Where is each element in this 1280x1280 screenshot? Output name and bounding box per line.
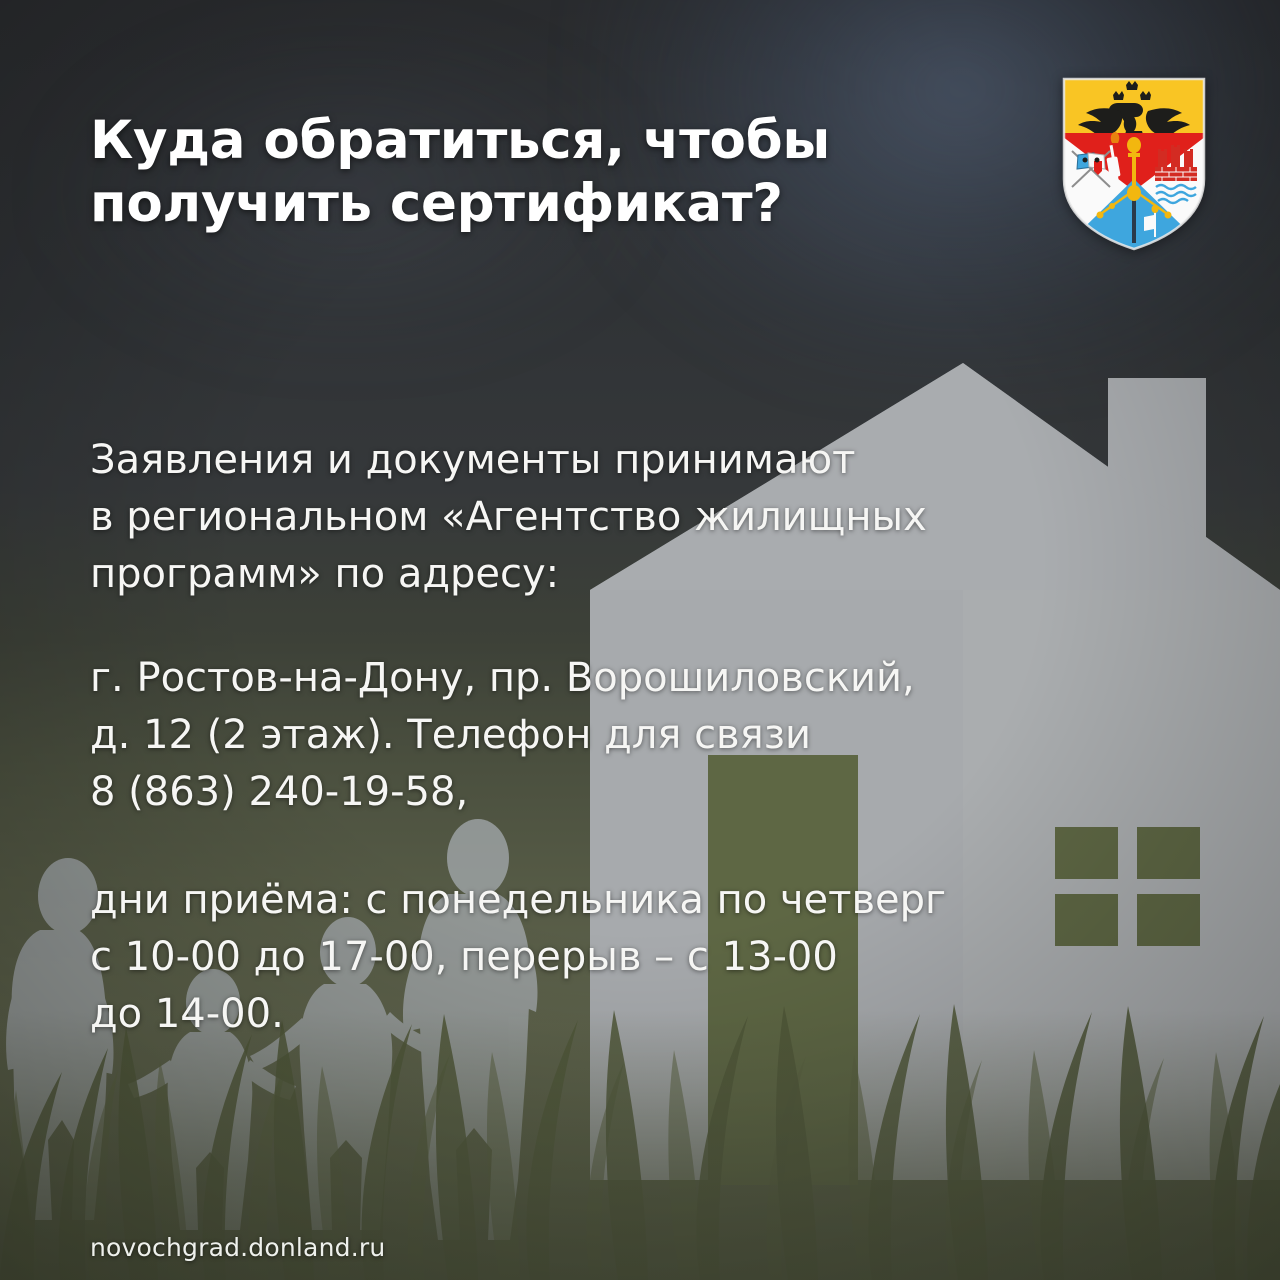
- reception-hours-paragraph: дни приёма: с понедельника по четверг с …: [90, 872, 1100, 1042]
- intro-paragraph: Заявления и документы принимают в регион…: [90, 432, 1100, 602]
- page-title-line-2: получить сертификат?: [90, 173, 970, 236]
- page-title-line-1: Куда обратиться, чтобы: [90, 110, 970, 173]
- page-title: Куда обратиться, чтобы получить сертифик…: [90, 110, 970, 235]
- poster-canvas: Куда обратиться, чтобы получить сертифик…: [0, 0, 1280, 1280]
- address-paragraph: г. Ростов-на-Дону, пр. Ворошиловский, д.…: [90, 650, 1100, 820]
- address-phone: 8 (863) 240-19-58,: [90, 764, 1100, 821]
- address-line-1: г. Ростов-на-Дону, пр. Ворошиловский,: [90, 650, 1100, 707]
- coat-of-arms-icon: [1058, 75, 1210, 253]
- hours-line-3: до 14-00.: [90, 986, 1100, 1043]
- intro-line-1: Заявления и документы принимают: [90, 432, 1100, 489]
- footer-website-url[interactable]: novochgrad.donland.ru: [90, 1233, 385, 1262]
- intro-line-2: в региональном «Агентство жилищных: [90, 489, 1100, 546]
- address-line-2: д. 12 (2 этаж). Телефон для связи: [90, 707, 1100, 764]
- shield-field: [1058, 75, 1210, 253]
- intro-line-3: программ» по адресу:: [90, 546, 1100, 603]
- hours-line-1: дни приёма: с понедельника по четверг: [90, 872, 1100, 929]
- hours-line-2: с 10-00 до 17-00, перерыв – с 13-00: [90, 929, 1100, 986]
